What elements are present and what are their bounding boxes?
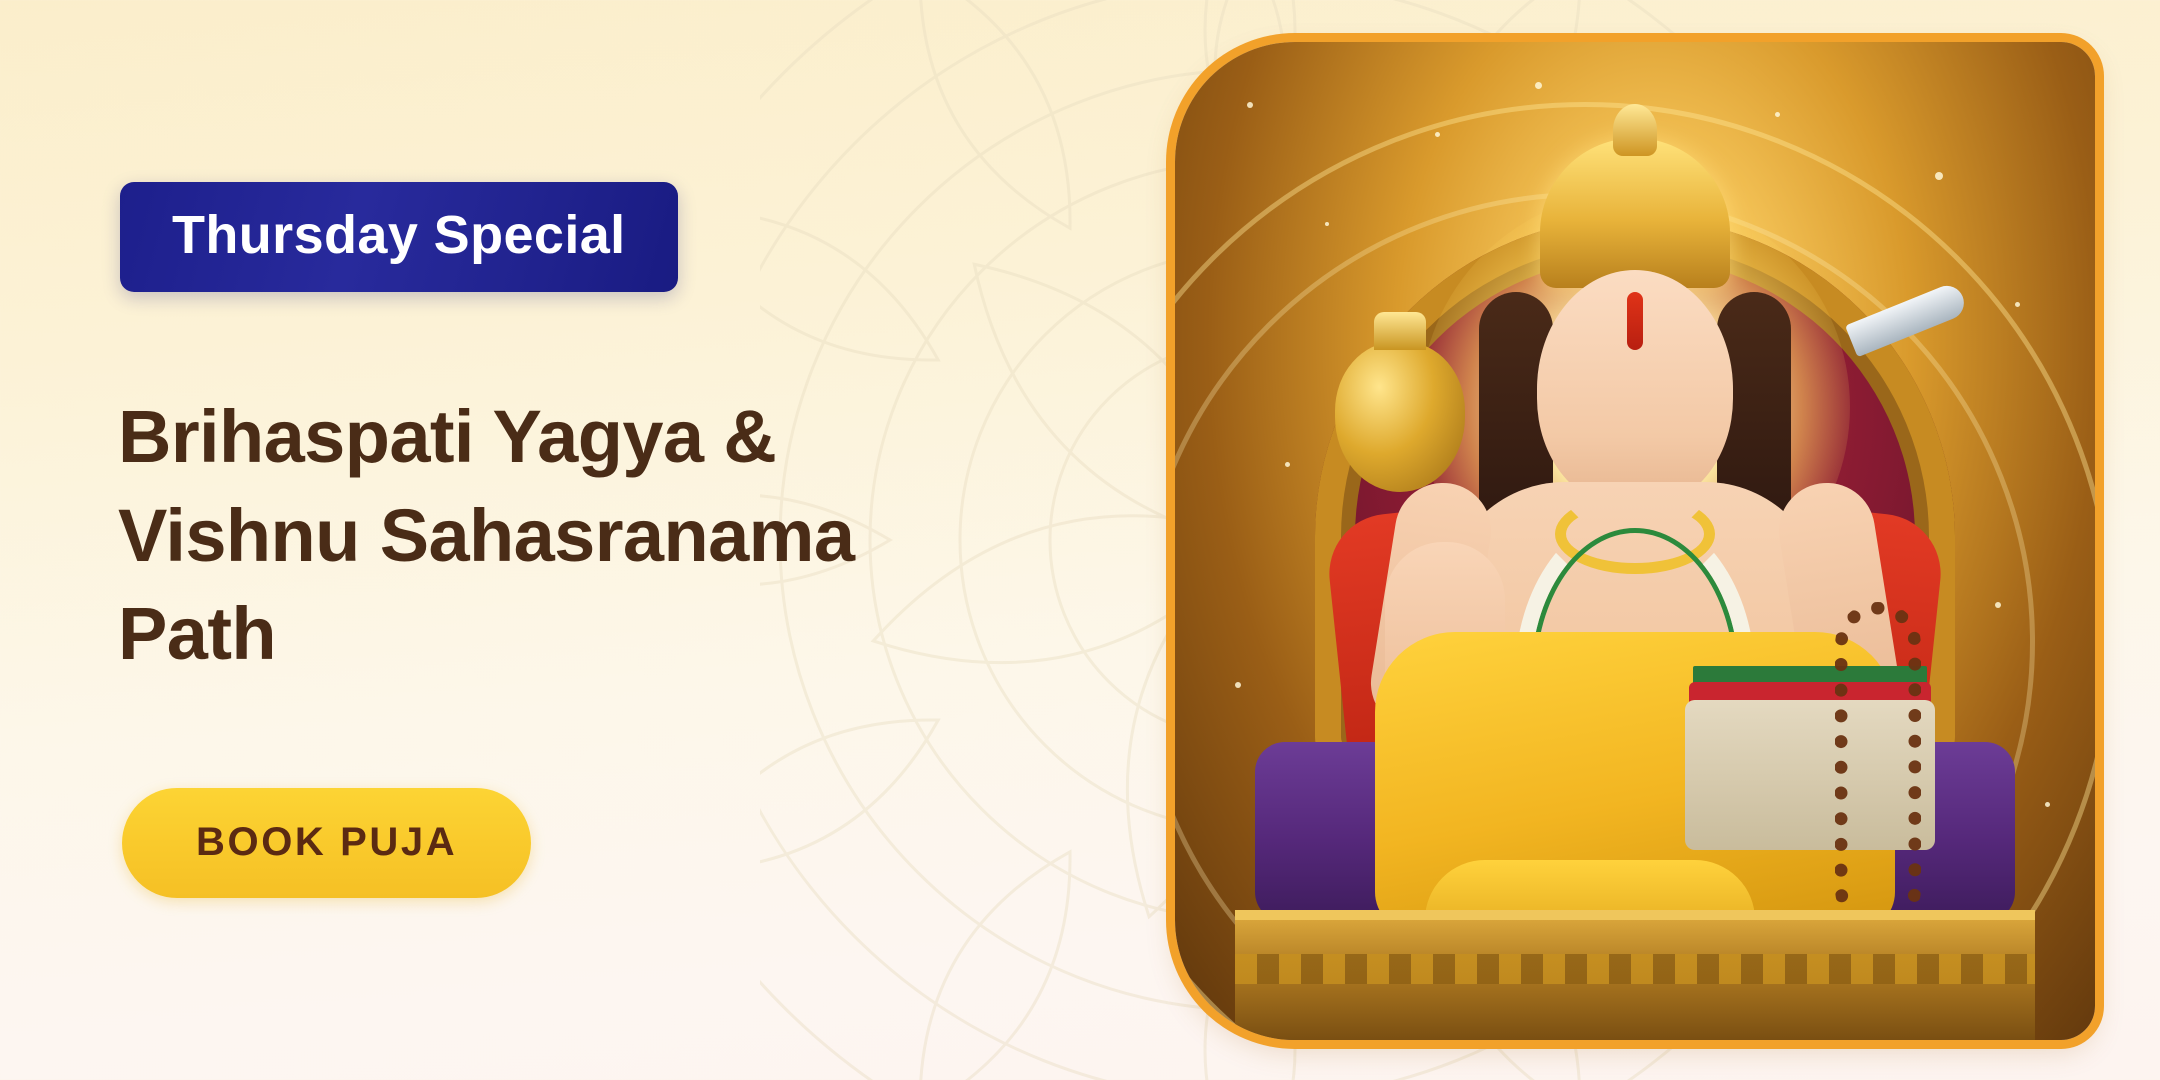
deity-figure — [1175, 42, 2095, 1040]
status-badge: Thursday Special — [120, 182, 678, 292]
throne-base — [1235, 910, 2035, 1040]
kamandalu-pot-icon — [1335, 342, 1465, 492]
deity-artwork-image — [1175, 42, 2095, 1040]
book-puja-button[interactable]: BOOK PUJA — [122, 788, 531, 898]
deity-artwork-card[interactable] — [1175, 42, 2095, 1040]
promo-banner: Thursday Special Brihaspati Yagya & Vish… — [0, 0, 2160, 1080]
page-title: Brihaspati Yagya & Vishnu Sahasranama Pa… — [118, 388, 988, 683]
book-puja-button-label: BOOK PUJA — [196, 822, 457, 862]
crown-finial-icon — [1613, 104, 1657, 156]
crown-icon — [1540, 138, 1730, 288]
rudraksha-mala-icon — [1835, 602, 1921, 932]
page-title-line-2: Vishnu Sahasranama — [118, 487, 988, 585]
banner-text-pane: Thursday Special Brihaspati Yagya & Vish… — [0, 0, 1080, 1080]
blade-icon — [1845, 281, 1969, 357]
page-title-line-3: Path — [118, 585, 988, 683]
tilak-mark — [1627, 292, 1643, 350]
page-title-line-1: Brihaspati Yagya & — [118, 388, 988, 486]
status-badge-label: Thursday Special — [172, 208, 626, 262]
